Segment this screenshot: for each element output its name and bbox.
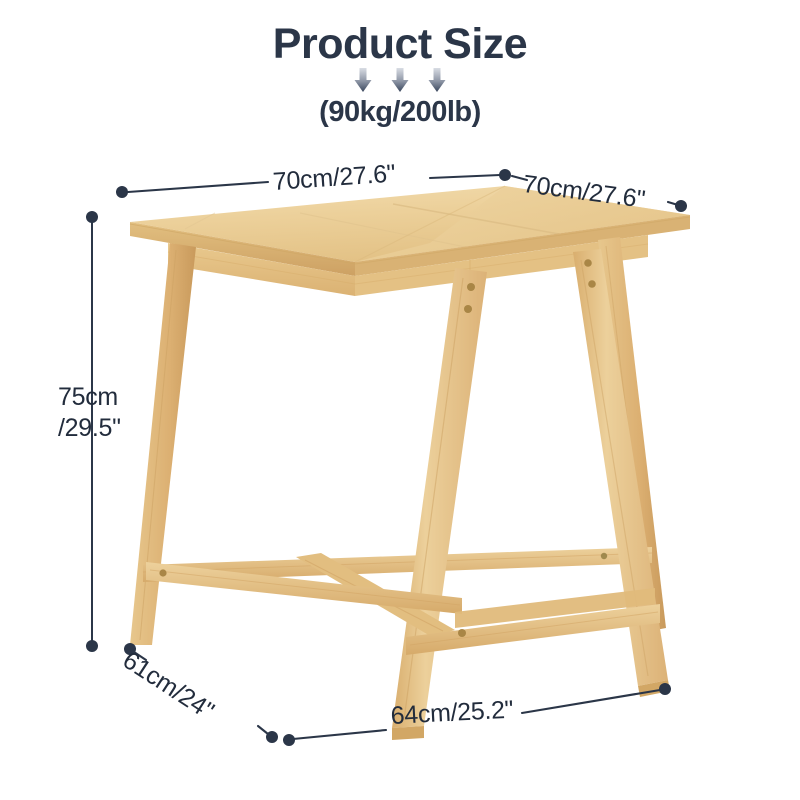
dim-endpoint bbox=[266, 731, 278, 743]
leg-back-left bbox=[130, 243, 196, 645]
leg-front-left bbox=[392, 268, 487, 740]
screw-icon bbox=[458, 629, 466, 637]
screw-icon bbox=[584, 259, 592, 267]
dim-endpoint bbox=[116, 186, 128, 198]
screw-icon bbox=[464, 305, 472, 313]
product-size-diagram: Product Size (90kg/200lb) bbox=[0, 0, 800, 800]
dimension-label-height: 75cm /29.5" bbox=[58, 382, 121, 443]
dim-endpoint bbox=[659, 683, 671, 695]
dim-endpoint bbox=[675, 200, 687, 212]
dim-endpoint bbox=[283, 734, 295, 746]
dim-endpoint bbox=[86, 211, 98, 223]
dimline-top-left bbox=[128, 182, 268, 192]
height-line-1: 75cm bbox=[58, 382, 121, 413]
screw-icon bbox=[601, 553, 607, 559]
screw-icon bbox=[588, 280, 596, 288]
dimline-width bbox=[293, 730, 386, 739]
screw-icon bbox=[159, 569, 166, 576]
height-line-2: /29.5" bbox=[58, 413, 121, 444]
dim-endpoint bbox=[499, 169, 511, 181]
dim-endpoint bbox=[86, 640, 98, 652]
screw-icon bbox=[467, 283, 475, 291]
